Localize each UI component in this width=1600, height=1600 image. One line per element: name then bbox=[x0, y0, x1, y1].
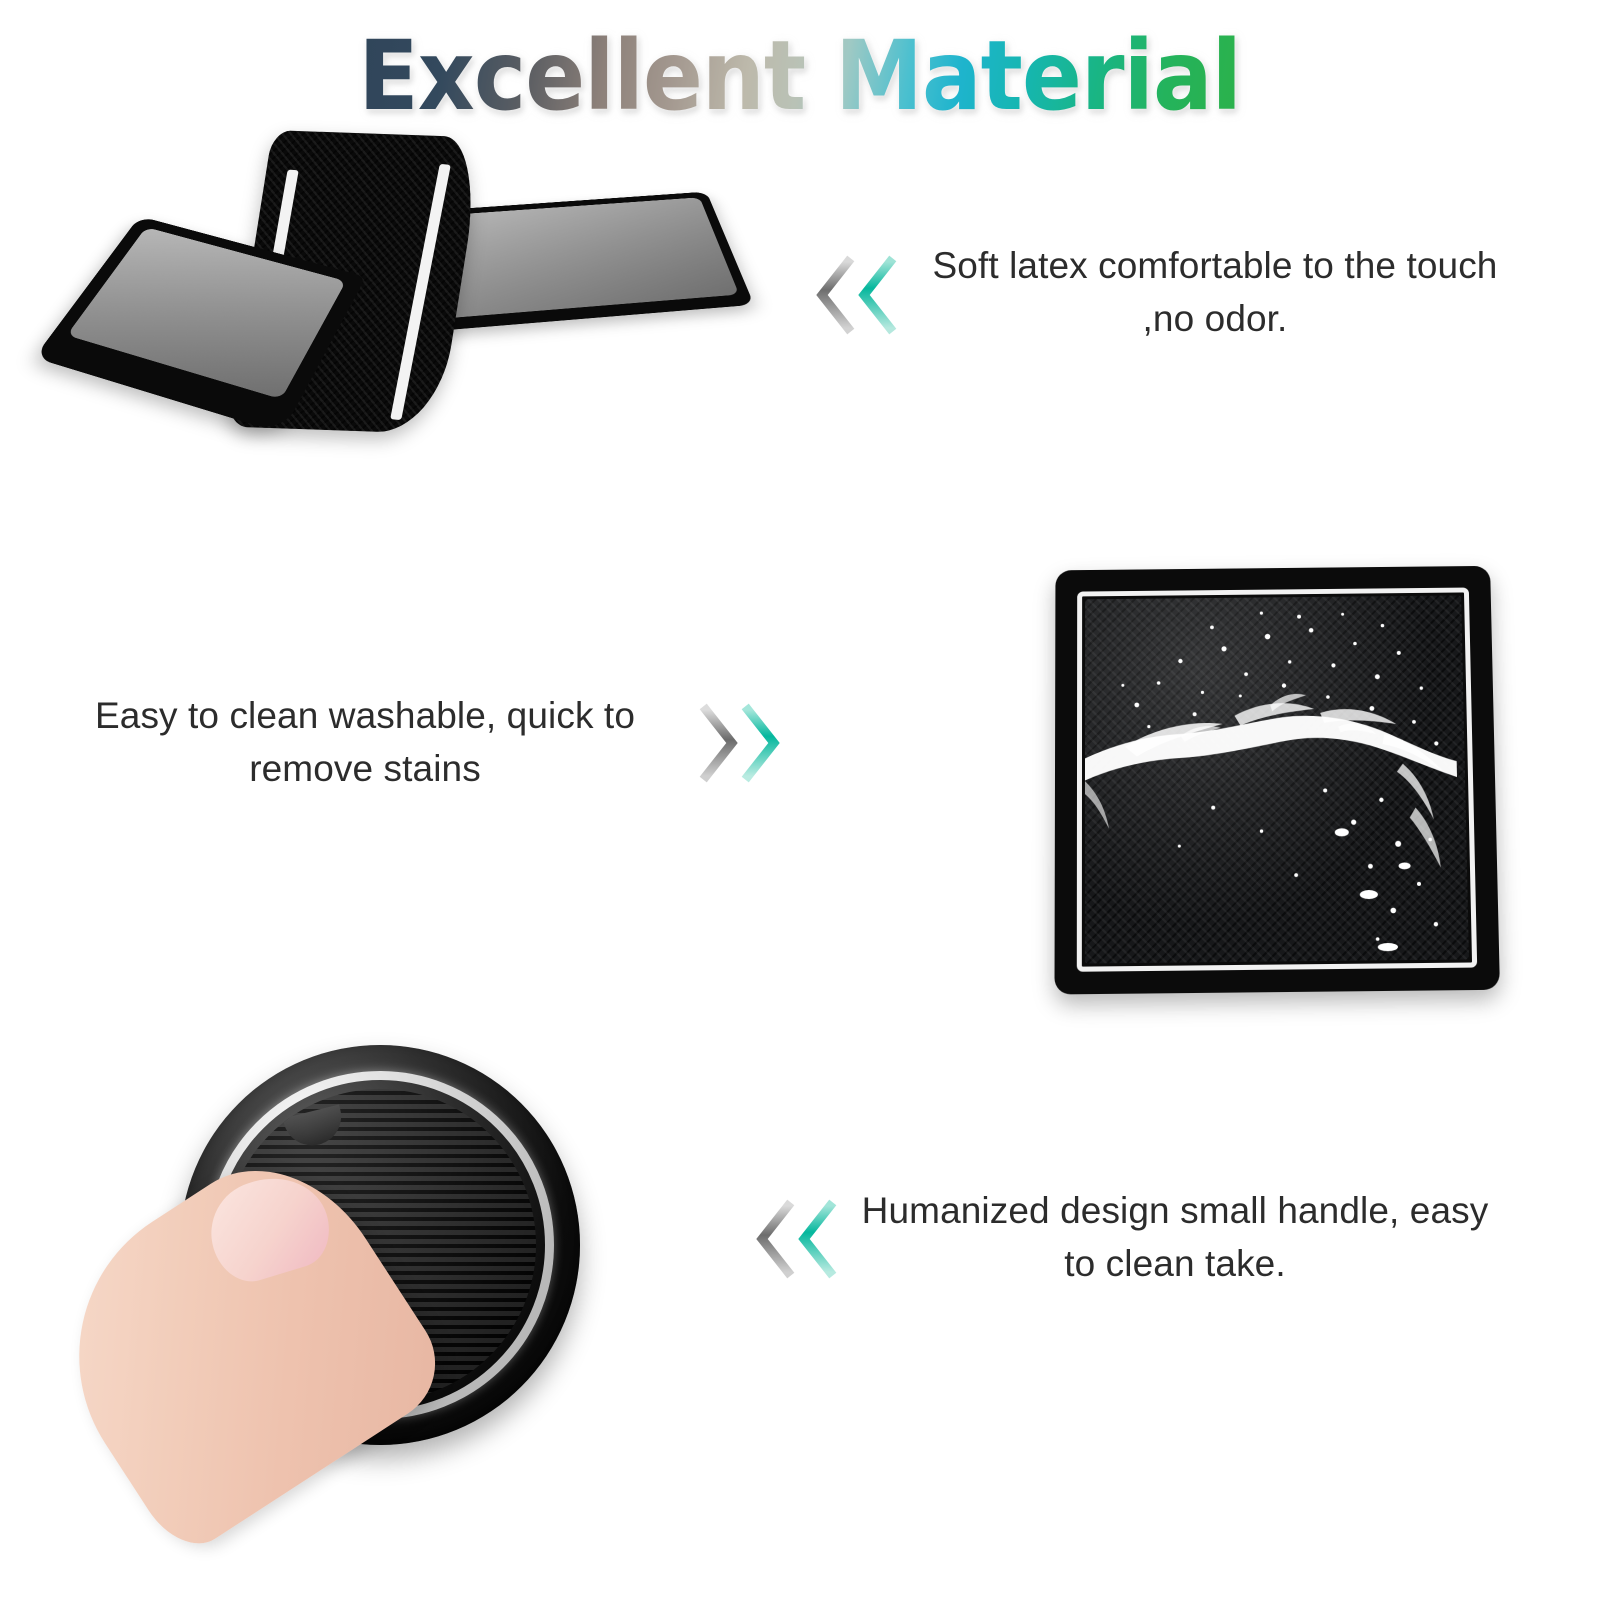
feature-text-humanized: Humanized design small handle, easy to c… bbox=[845, 1185, 1505, 1290]
chevron-right-icon-easy-clean bbox=[688, 700, 798, 786]
water-splash-graphic bbox=[1085, 595, 1469, 963]
mat-slab-right-underside bbox=[430, 197, 739, 319]
page-title: Excellent Material bbox=[359, 26, 1242, 127]
splash-mat-textured-surface bbox=[1085, 595, 1469, 963]
splash-mat-body bbox=[1054, 566, 1499, 995]
splash-mat-photo bbox=[1055, 565, 1495, 990]
folded-mats-photo bbox=[70, 120, 730, 470]
chevron-left-icon-soft-latex bbox=[812, 252, 922, 338]
infographic-page: Excellent Material bbox=[0, 0, 1600, 1600]
page-title-wrap: Excellent Material bbox=[0, 26, 1600, 127]
coaster-finger-photo bbox=[75, 1025, 575, 1505]
feature-text-soft-latex: Soft latex comfortable to the touch ,no … bbox=[910, 240, 1520, 345]
feature-text-easy-clean: Easy to clean washable, quick to remove … bbox=[60, 690, 670, 795]
